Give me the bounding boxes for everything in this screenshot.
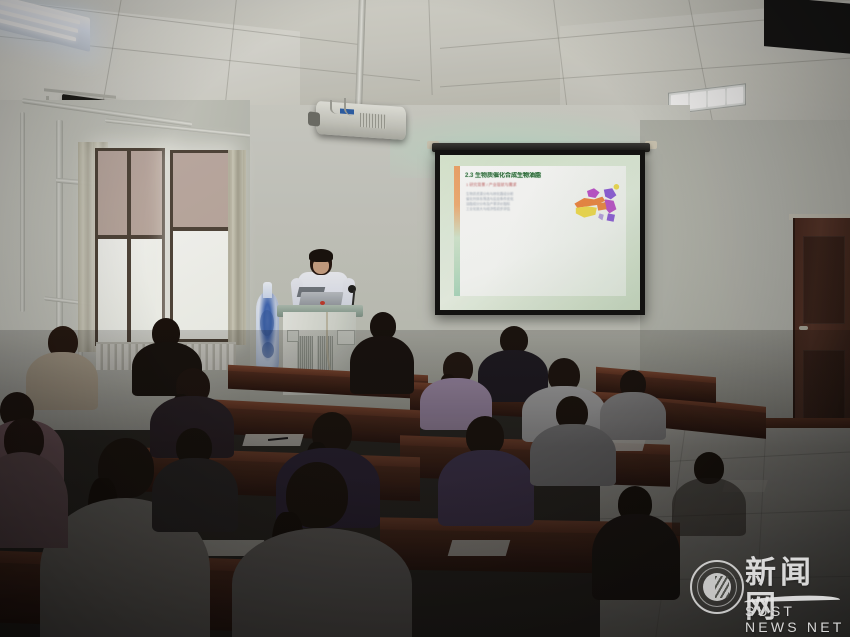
watermark: 新闻网 SUST NEWS NET xyxy=(688,548,846,632)
vase-neck xyxy=(263,282,272,298)
door-panel xyxy=(803,350,845,426)
photo-scene: 2.3 生物质催化合成生物油脂 1 研究背景 / 产业现状与需求 生物质资源分布… xyxy=(0,0,850,637)
window-left xyxy=(95,148,165,346)
notebook xyxy=(448,540,511,556)
presenter-hair xyxy=(309,249,333,262)
china-resource-map xyxy=(566,182,622,228)
window-middle xyxy=(170,150,232,342)
watermark-seal-icon xyxy=(690,560,744,614)
projector-cable xyxy=(330,100,350,114)
slide-body-line: 工业化放大与经济性初步评估 xyxy=(466,207,555,212)
wall-pipe xyxy=(20,112,25,312)
window-curtain xyxy=(228,150,246,345)
slide-accent-band xyxy=(454,166,460,296)
wall-pipe xyxy=(56,120,63,360)
projector-lens xyxy=(308,111,320,126)
wall-speaker-right xyxy=(764,0,850,54)
slide-body-text: 生物质资源分布与转化路径分析 催化剂体系筛选与反应条件优化 油脂组分分布及产率评… xyxy=(466,192,555,213)
podium-label xyxy=(287,330,299,342)
door-handle[interactable] xyxy=(799,326,808,330)
porcelain-vase xyxy=(256,292,279,374)
door-panel xyxy=(803,236,845,324)
watermark-english-text: SUST NEWS NET xyxy=(745,603,846,635)
slide-title: 2.3 生物质催化合成生物油脂 xyxy=(465,172,622,180)
projection-screen: 2.3 生物质催化合成生物油脂 1 研究背景 / 产业现状与需求 生物质资源分布… xyxy=(435,150,645,315)
classroom-door[interactable] xyxy=(793,218,850,433)
presentation-slide: 2.3 生物质催化合成生物油脂 1 研究背景 / 产业现状与需求 生物质资源分布… xyxy=(454,166,626,296)
